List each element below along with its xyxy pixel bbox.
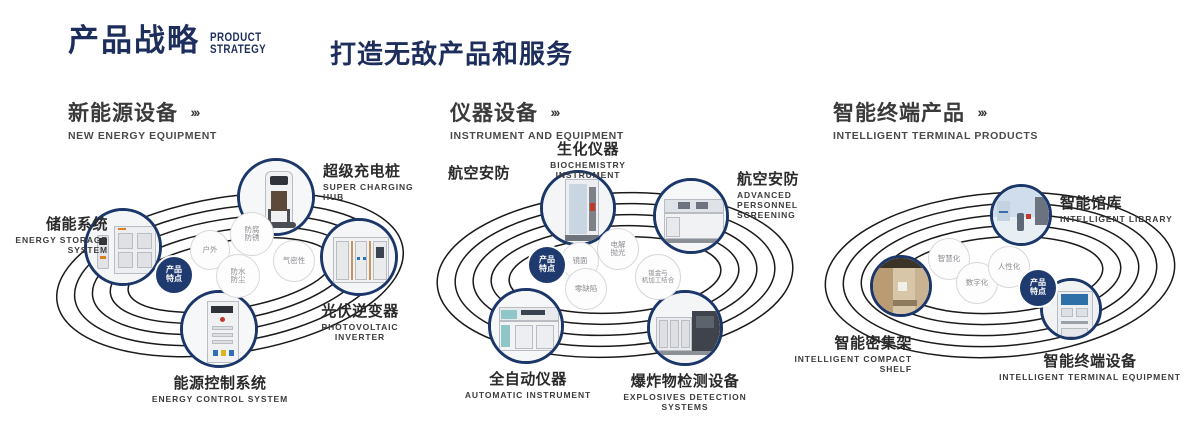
feature-text: 数字化 (966, 279, 989, 287)
chevron-right-icon: ››› (550, 104, 558, 120)
feature-text: 电解 抛光 (611, 241, 626, 257)
page-title-en: PRODUCT STRATEGY (210, 31, 266, 55)
feature-bubble: 零缺陷 (565, 268, 607, 310)
node-intelligent-compact-shelf[interactable] (870, 255, 932, 317)
node-intelligent-library[interactable] (990, 184, 1052, 246)
feature-text: 人性化 (998, 263, 1021, 271)
node-automatic-instrument[interactable] (488, 288, 564, 364)
badge-text: 产品 特点 (166, 266, 182, 284)
page-subtitle: 打造无敌产品和服务 (330, 34, 573, 71)
feature-text: 气密性 (283, 257, 306, 265)
feature-bubble: 电解 抛光 (597, 228, 639, 270)
label-energy-control-system: 能源控制系统 ENERGY CONTROL SYSTEM (130, 372, 310, 404)
node-label-cn: 智能终端设备 (995, 350, 1185, 371)
label-intelligent-library: 智能馆库 INTELLIGENT LIBRARY (1060, 192, 1173, 224)
node-label-cn: 爆炸物检测设备 (600, 370, 770, 391)
node-label-cn: 航空安防 (395, 162, 510, 183)
node-energy-control-system[interactable] (180, 290, 258, 368)
node-advanced-personnel-screening[interactable] (653, 178, 729, 254)
node-explosives-detection[interactable] (647, 290, 723, 366)
page-header: 产品战略 PRODUCT STRATEGY (68, 26, 278, 57)
screening-photo (656, 181, 726, 251)
inverter-photo (323, 221, 395, 293)
section-title-en: INTELLIGENT TERMINAL PRODUCTS (833, 130, 1038, 142)
chevron-right-icon: ››› (977, 104, 985, 120)
feature-bubble: 钣金与 机加工结合 (635, 254, 681, 300)
page-title-en-line2: STRATEGY (210, 43, 266, 55)
node-label-en: EXPLOSIVES DETECTION SYSTEMS (600, 392, 770, 412)
control-system-photo (183, 293, 255, 365)
feature-text: 钣金与 机加工结合 (642, 270, 675, 284)
node-label-en: SUPER CHARGING HUB (323, 182, 430, 202)
node-label-cn: 智能密集架 (762, 332, 912, 353)
section-title-en: NEW ENERGY EQUIPMENT (68, 130, 217, 142)
node-photovoltaic-inverter[interactable] (320, 218, 398, 296)
label-biochemistry-instrument: 生化仪器 BIOCHEMISTRY INSTRUMENT (523, 138, 653, 180)
node-label-cn: 储能系统 (0, 213, 108, 234)
product-strategy-infographic: 产品战略 PRODUCT STRATEGY 打造无敌产品和服务 新能源设备 ››… (0, 0, 1200, 422)
node-label-en: INTELLIGENT LIBRARY (1060, 214, 1173, 224)
node-label-en: AUTOMATIC INSTRUMENT (453, 390, 603, 400)
node-label-cn: 能源控制系统 (130, 372, 310, 393)
label-intelligent-compact-shelf: 智能密集架 INTELLIGENT COMPACT SHELF (762, 332, 912, 374)
node-label-en: ENERGY CONTROL SYSTEM (130, 394, 310, 404)
node-label-en: ENERGY STORAGE SYSTEM (0, 235, 108, 255)
node-label-cn: 智能馆库 (1060, 192, 1173, 213)
node-label-cn: 生化仪器 (523, 138, 653, 159)
node-label-en: BIOCHEMISTRY INSTRUMENT (523, 160, 653, 180)
library-photo (993, 187, 1049, 243)
feature-text: 防腐 防锈 (245, 226, 260, 242)
node-label-en: INTELLIGENT COMPACT SHELF (762, 354, 912, 374)
feature-text: 镜面 (573, 257, 588, 265)
feature-text: 零缺陷 (575, 285, 598, 293)
feature-text: 户外 (203, 246, 218, 254)
badge-text: 产品 特点 (539, 256, 555, 274)
product-feature-badge: 产品 特点 (527, 245, 567, 285)
label-energy-storage: 储能系统 ENERGY STORAGE SYSTEM (0, 213, 108, 255)
label-photovoltaic-inverter: 光伏逆变器 PHOTOVOLTAIC INVERTER (295, 300, 425, 342)
node-label-cn: 全自动仪器 (453, 368, 603, 389)
automatic-instrument-photo (491, 291, 561, 361)
chevron-right-icon: ››› (190, 104, 198, 120)
explosives-detection-photo (650, 293, 720, 363)
compact-shelf-photo (873, 258, 929, 314)
cluster-intelligent: 智能馆库 INTELLIGENT LIBRARY 智能密集架 INTELLIGE… (800, 150, 1200, 410)
feature-bubble: 防水 防尘 (216, 254, 260, 298)
section-title-cn: 仪器设备 (450, 97, 538, 127)
node-label-en: PHOTOVOLTAIC INVERTER (295, 322, 425, 342)
feature-bubble: 气密性 (273, 240, 315, 282)
badge-text: 产品 特点 (1030, 279, 1046, 297)
section-title-instrument: 仪器设备 ››› INSTRUMENT AND EQUIPMENT (450, 97, 624, 142)
biochemistry-photo (543, 173, 613, 243)
product-feature-badge: 产品 特点 (1018, 268, 1058, 308)
label-explosives-detection: 爆炸物检测设备 EXPLOSIVES DETECTION SYSTEMS (600, 370, 770, 412)
feature-text: 智慧化 (938, 255, 961, 263)
product-feature-badge: 产品 特点 (154, 255, 194, 295)
section-title-new-energy: 新能源设备 ››› NEW ENERGY EQUIPMENT (68, 97, 217, 142)
label-intelligent-terminal-equipment: 智能终端设备 INTELLIGENT TERMINAL EQUIPMENT (995, 350, 1185, 382)
feature-text: 防水 防尘 (231, 268, 246, 284)
feature-bubble: 防腐 防锈 (230, 212, 274, 256)
section-title-cn: 智能终端产品 (833, 97, 965, 127)
section-title-intelligent: 智能终端产品 ››› INTELLIGENT TERMINAL PRODUCTS (833, 97, 1038, 142)
label-automatic-instrument: 全自动仪器 AUTOMATIC INSTRUMENT (453, 368, 603, 400)
section-title-cn: 新能源设备 (68, 97, 178, 127)
node-label-en: INTELLIGENT TERMINAL EQUIPMENT (995, 372, 1185, 382)
cluster-new-energy: 储能系统 ENERGY STORAGE SYSTEM 超级充电桩 SUPER C… (30, 150, 430, 410)
node-label-cn: 光伏逆变器 (295, 300, 425, 321)
page-title-cn: 产品战略 (68, 26, 200, 57)
cluster-instrument: 生化仪器 BIOCHEMISTRY INSTRUMENT 航空安防 航空安防 A… (415, 150, 815, 410)
label-aviation-security-left: 航空安防 (395, 162, 510, 183)
